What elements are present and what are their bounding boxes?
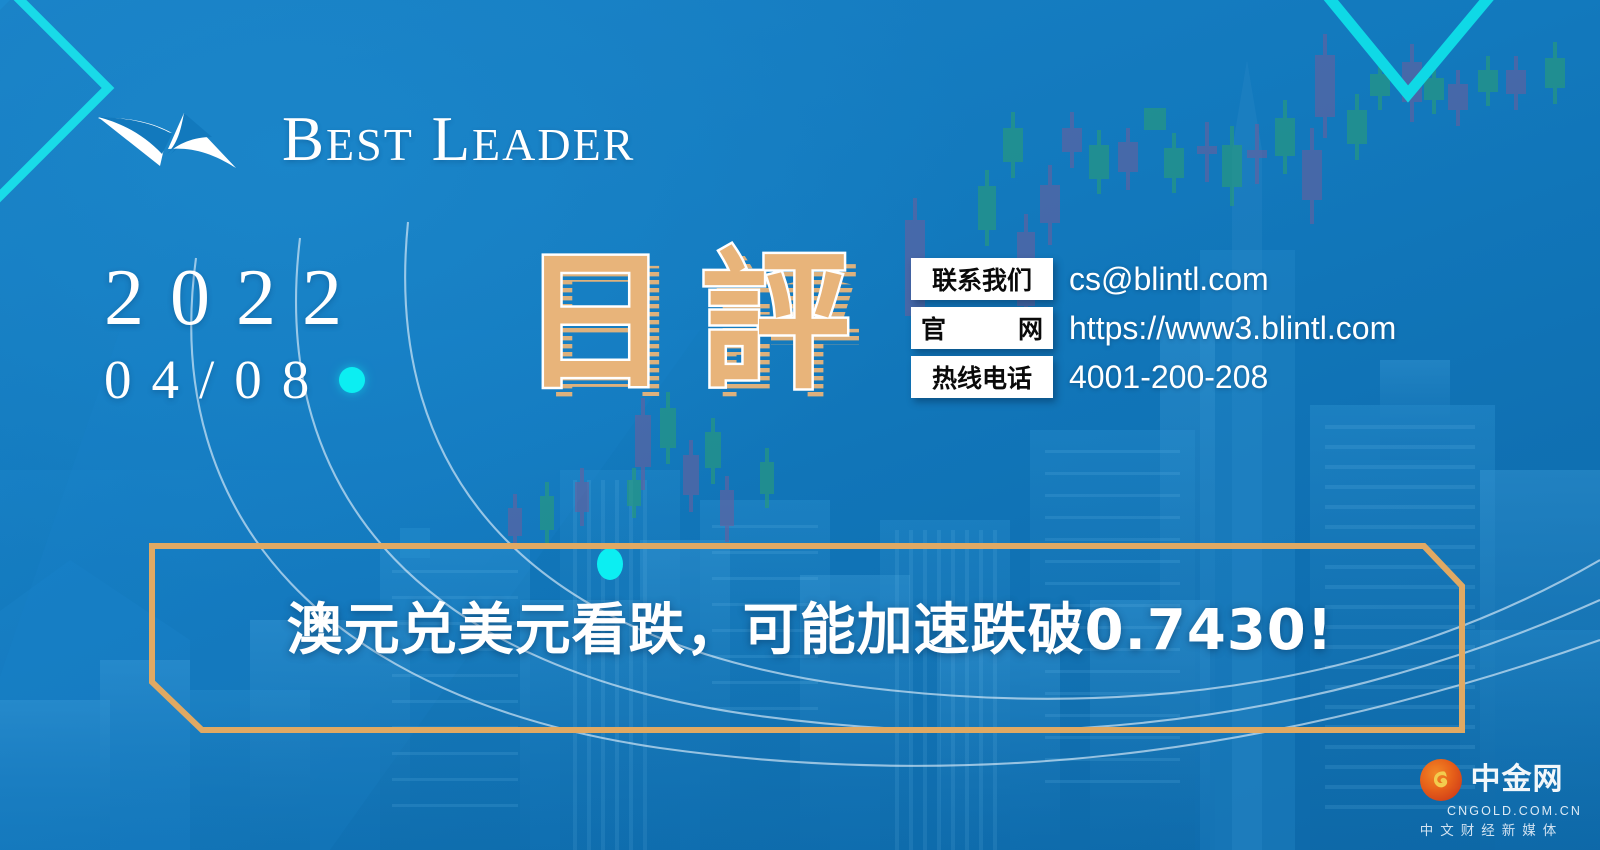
contact-value-email[interactable]: cs@blintl.com bbox=[1069, 263, 1269, 295]
contact-label-hotline: 热线电话 bbox=[911, 356, 1053, 398]
brand-header: BEST LEADER bbox=[96, 108, 635, 171]
brand-word-est: EST bbox=[326, 119, 414, 170]
watermark-domain: CNGOLD.COM.CN bbox=[1447, 805, 1582, 818]
flame-swirl-icon bbox=[1428, 767, 1454, 793]
contact-value-hotline[interactable]: 4001-200-208 bbox=[1069, 361, 1268, 393]
date-accent-dot bbox=[339, 367, 365, 393]
contact-label-website-a: 官 bbox=[921, 310, 946, 346]
brand-word-eader: EADER bbox=[472, 119, 635, 170]
date-month-day: 04/08 bbox=[104, 352, 329, 407]
daily-review-title: 日 評 日 評 bbox=[498, 232, 898, 432]
date-monthday-row: 04/08 bbox=[104, 352, 368, 407]
contact-row-email: 联系我们 cs@blintl.com bbox=[911, 258, 1396, 300]
headline-text: 澳元兑美元看跌，可能加速跌破0.7430! bbox=[150, 600, 1470, 662]
title-char2: 評 bbox=[700, 236, 850, 410]
date-year: 2022 bbox=[104, 258, 368, 338]
brand-word-b: B bbox=[282, 104, 326, 174]
contact-label-website: 官 网 bbox=[911, 307, 1053, 349]
contact-value-website[interactable]: https://www3.blintl.com bbox=[1069, 312, 1396, 344]
banner-canvas: BEST LEADER 2022 04/08 日 評 日 bbox=[0, 0, 1600, 850]
wing-mark-icon bbox=[96, 109, 236, 171]
watermark-top-row: 中金网 bbox=[1420, 759, 1564, 801]
contact-row-hotline: 热线电话 4001-200-208 bbox=[911, 356, 1396, 398]
title-char1: 日 bbox=[520, 236, 670, 410]
contact-label-website-b: 网 bbox=[1018, 310, 1043, 346]
contact-label-email: 联系我们 bbox=[911, 258, 1053, 300]
brand-wordmark: BEST LEADER bbox=[282, 108, 635, 171]
contact-block: 联系我们 cs@blintl.com 官 网 https://www3.blin… bbox=[911, 258, 1396, 398]
date-block: 2022 04/08 bbox=[104, 258, 368, 407]
brand-word-l: L bbox=[432, 104, 472, 174]
cngold-logo-icon bbox=[1420, 759, 1462, 801]
cngold-watermark: 中金网 CNGOLD.COM.CN 中文财经新媒体 bbox=[1401, 759, 1582, 838]
watermark-name: 中金网 bbox=[1471, 765, 1564, 795]
contact-row-website: 官 网 https://www3.blintl.com bbox=[911, 307, 1396, 349]
watermark-tagline: 中文财经新媒体 bbox=[1420, 825, 1564, 839]
